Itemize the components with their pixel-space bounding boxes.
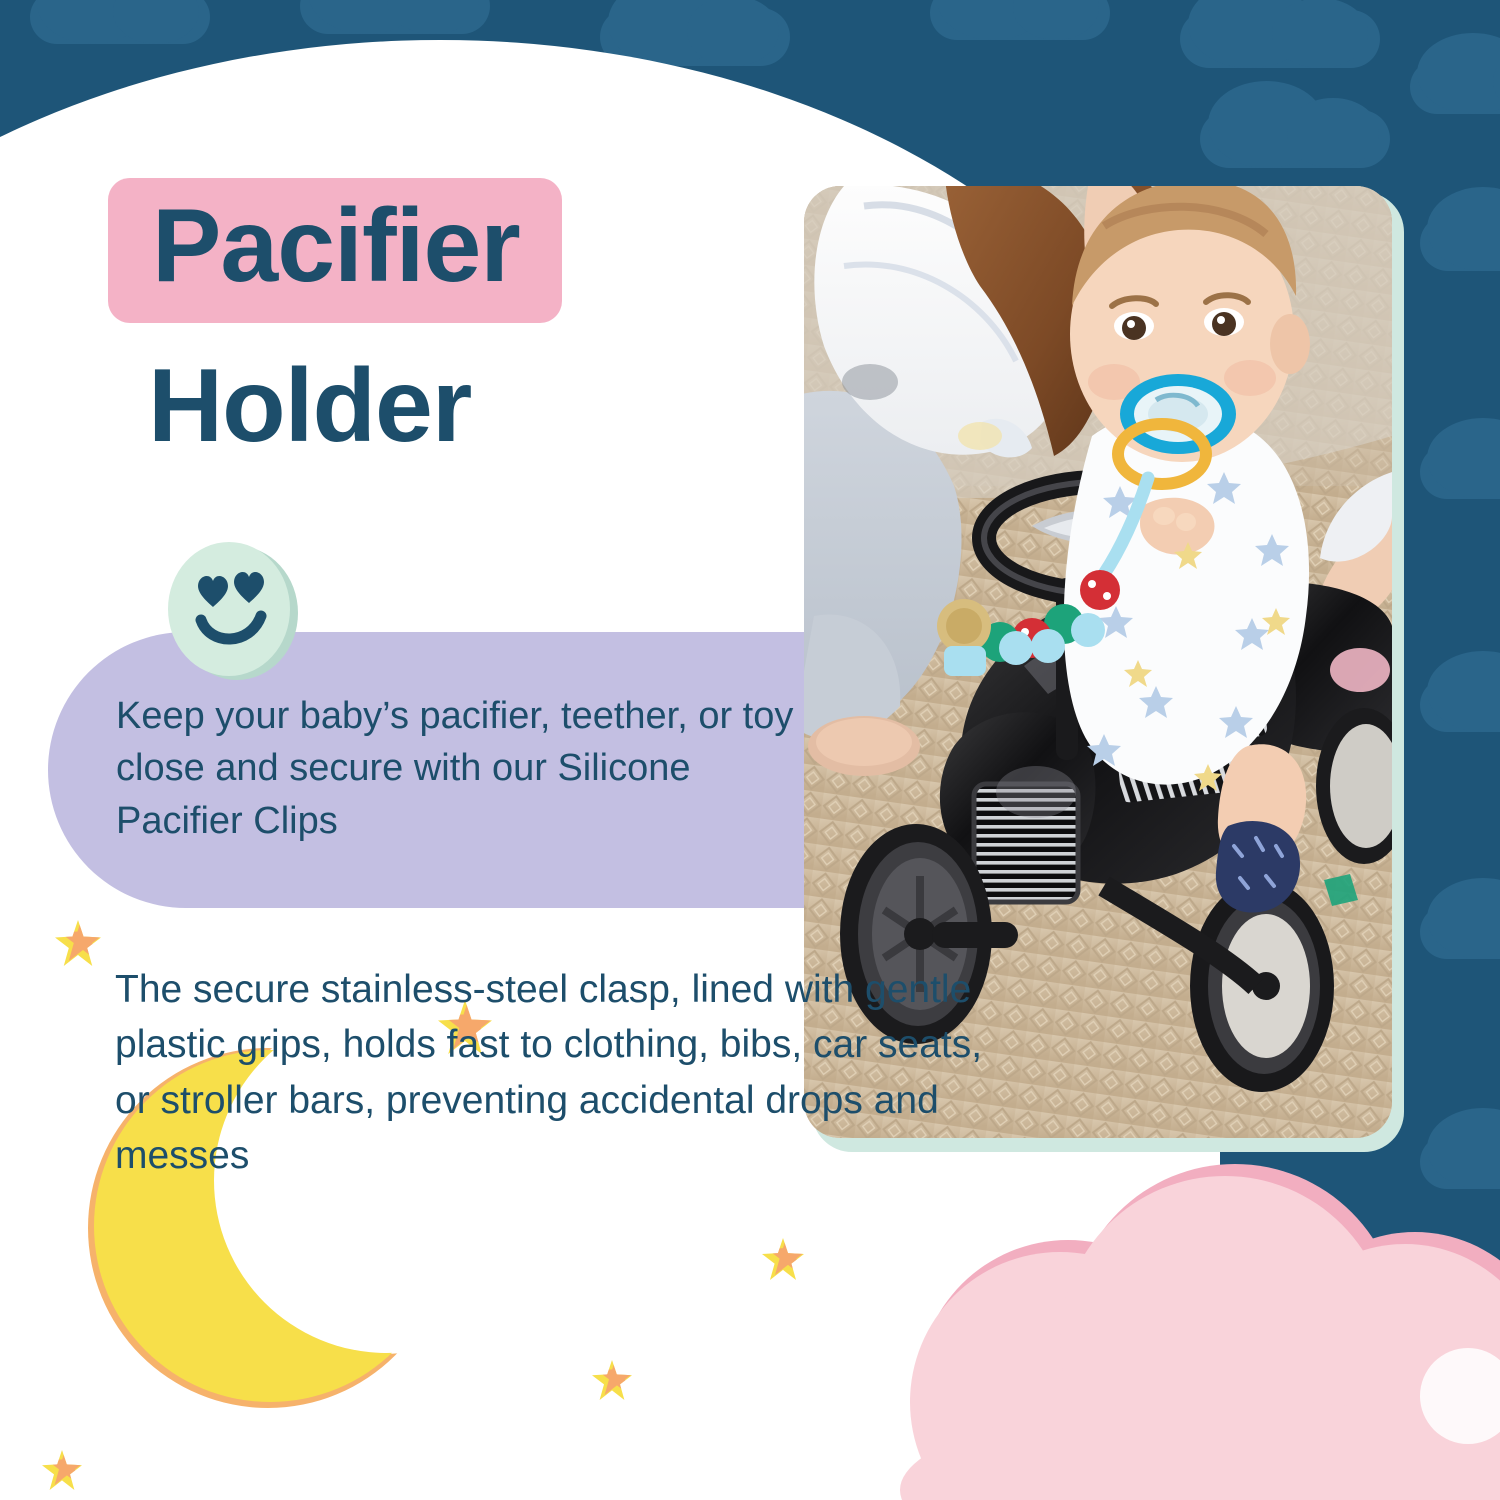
cloud-icon xyxy=(930,0,1110,40)
body-paragraph: The secure stainless-steel clasp, lined … xyxy=(115,962,995,1184)
cloud-icon xyxy=(1420,905,1500,959)
cloud-icon xyxy=(1420,445,1500,499)
title-chip: Pacifier xyxy=(108,178,562,323)
cloud-icon xyxy=(1410,60,1500,114)
page-title-line2: Holder xyxy=(148,352,471,461)
cloud-icon xyxy=(1420,215,1500,271)
cloud-icon xyxy=(1180,10,1380,68)
cloud-icon xyxy=(300,0,490,34)
infographic-canvas: Pacifier Holder Keep your baby’s pacifie… xyxy=(0,0,1500,1500)
cloud-icon xyxy=(1200,110,1390,168)
smiling-face-with-heart-eyes-icon xyxy=(168,542,296,682)
callout-text: Keep your baby’s pacifier, teether, or t… xyxy=(116,690,816,847)
cloud-icon xyxy=(30,0,210,44)
cloud-icon xyxy=(1420,678,1500,732)
pink-cloud-decoration xyxy=(900,1168,1500,1500)
page-title-line1: Pacifier xyxy=(152,192,520,301)
